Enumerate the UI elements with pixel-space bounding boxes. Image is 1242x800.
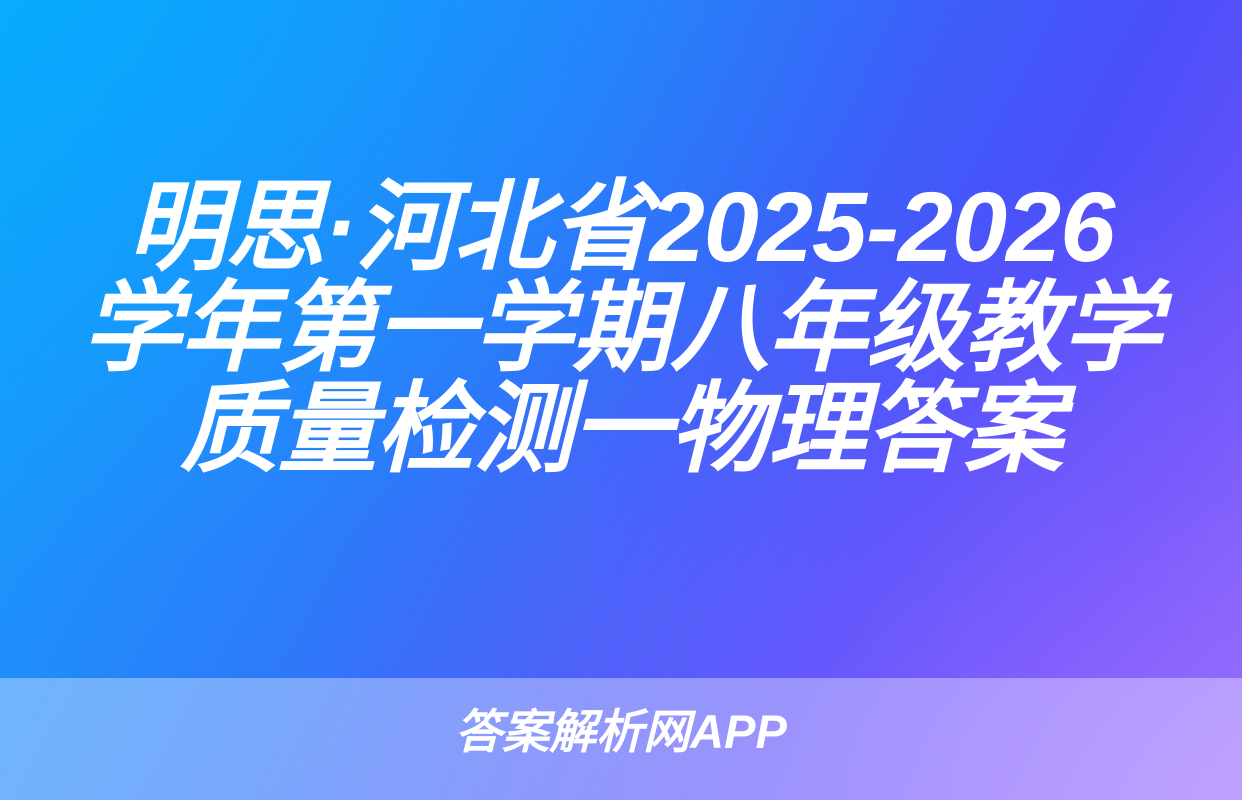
title-line-1: 明思·河北省2025-2026 xyxy=(0,176,1242,277)
page-title: 明思·河北省2025-2026 学年第一学期八年级教学 质量检测一物理答案 xyxy=(0,176,1242,479)
title-line-2: 学年第一学期八年级教学 xyxy=(0,277,1242,378)
watermark-text: 答案解析网APP xyxy=(455,706,787,758)
background-gradient-highlight-top-left xyxy=(0,0,1242,800)
background-gradient-highlight-bottom-right xyxy=(0,0,1242,800)
watermark: 答案解析网APP xyxy=(0,706,1242,758)
title-line-3: 质量检测一物理答案 xyxy=(0,378,1242,479)
title-card-canvas: 明思·河北省2025-2026 学年第一学期八年级教学 质量检测一物理答案 答案… xyxy=(0,0,1242,800)
